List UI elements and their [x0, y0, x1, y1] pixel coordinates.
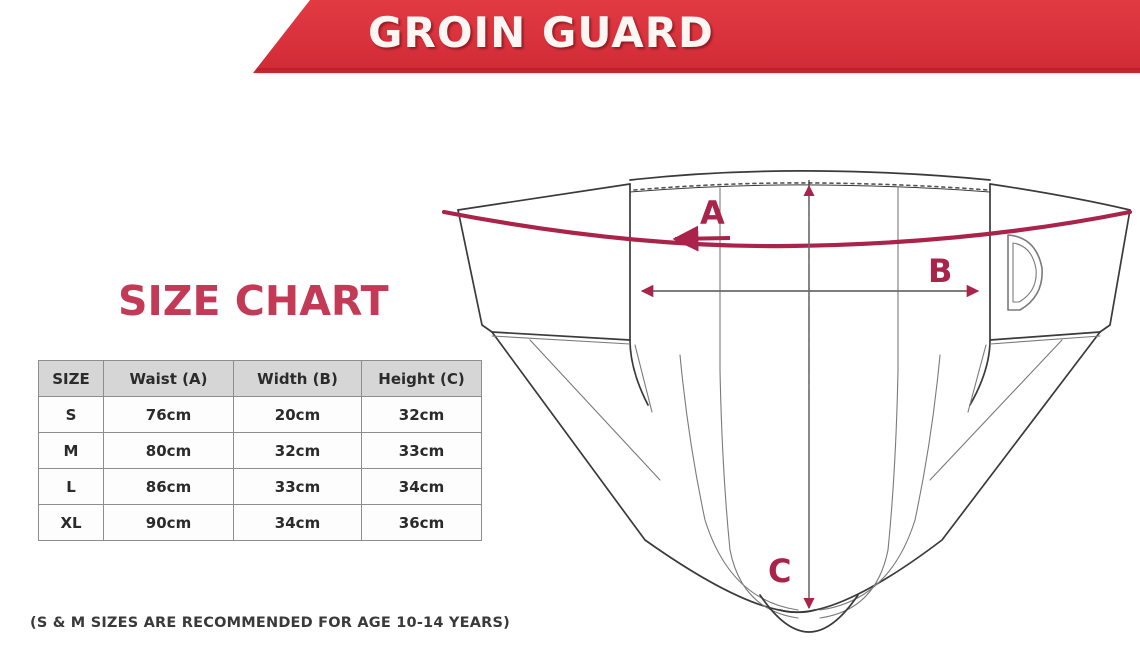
label-b: B [928, 252, 952, 290]
column-header-size: SIZE [39, 361, 104, 397]
size-chart-page: GROIN GUARD SIZE CHART SIZE Waist (A) Wi… [0, 0, 1140, 666]
waistband-top-edge [630, 171, 990, 180]
cup-left-edge [630, 184, 648, 405]
cell-width: 33cm [234, 469, 362, 505]
measurement-c: C [768, 186, 809, 608]
right-wing-top-edge [990, 184, 1130, 210]
table-row: XL 90cm 34cm 36cm [39, 505, 482, 541]
cell-width: 34cm [234, 505, 362, 541]
left-wing-bottom-edge [492, 332, 630, 340]
cup-bottom-tip [645, 540, 942, 633]
cell-width: 20cm [234, 397, 362, 433]
cup-right-edge [970, 184, 990, 405]
cell-waist: 80cm [104, 433, 234, 469]
measurement-b: B [642, 252, 978, 291]
size-chart-heading: SIZE CHART [118, 277, 389, 325]
size-chart-table: SIZE Waist (A) Width (B) Height (C) S 76… [38, 360, 482, 541]
cell-width: 32cm [234, 433, 362, 469]
header-banner-shadow [253, 68, 1140, 75]
cup-seam-right [820, 188, 898, 618]
measurement-a: A [444, 194, 1130, 246]
right-leg-outer-seam [780, 332, 1100, 612]
cell-size: S [39, 397, 104, 433]
page-title: GROIN GUARD [368, 8, 714, 57]
groin-guard-illustration: A B C [430, 140, 1140, 640]
cell-size: M [39, 433, 104, 469]
label-a: A [700, 194, 725, 232]
table-row: M 80cm 32cm 33cm [39, 433, 482, 469]
cell-size: L [39, 469, 104, 505]
column-header-width: Width (B) [234, 361, 362, 397]
column-header-waist: Waist (A) [104, 361, 234, 397]
strap-loop-inner [1013, 243, 1036, 302]
left-wing-outer-edge [458, 210, 492, 332]
left-leg-outer-seam [492, 332, 815, 612]
groin-guard-diagram: A B C [430, 140, 1140, 640]
right-thigh-seam [930, 340, 1062, 480]
center-construction-line [730, 180, 890, 400]
cell-size: XL [39, 505, 104, 541]
cell-waist: 86cm [104, 469, 234, 505]
table-row: L 86cm 33cm 34cm [39, 469, 482, 505]
right-wing-outer-edge [1100, 210, 1130, 332]
right-wing-seam [990, 336, 1100, 344]
label-c: C [768, 552, 791, 590]
cup-bottom-curve [645, 540, 942, 633]
left-wing-seam [492, 336, 630, 344]
table-row: S 76cm 20cm 32cm [39, 397, 482, 433]
cup-panel-right [820, 355, 940, 610]
garment-outline [458, 171, 1130, 612]
left-wing-top-edge [458, 184, 630, 210]
waist-measure-arrowhead [675, 238, 730, 239]
cell-waist: 90cm [104, 505, 234, 541]
table-header-row: SIZE Waist (A) Width (B) Height (C) [39, 361, 482, 397]
right-wing-bottom-edge [990, 332, 1100, 340]
strap-loop-icon [1008, 235, 1042, 310]
cell-waist: 76cm [104, 397, 234, 433]
